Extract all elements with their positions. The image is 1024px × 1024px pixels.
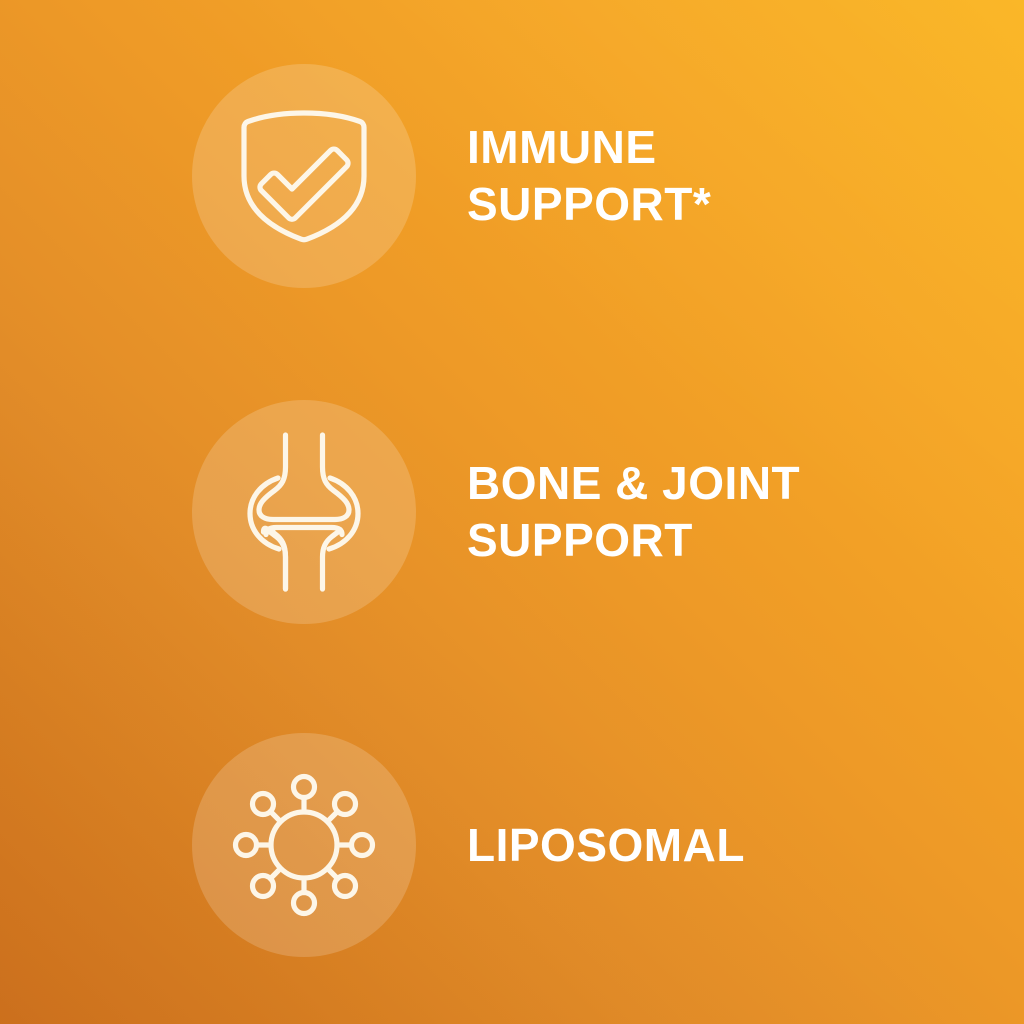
supplement-benefits-panel: IMMUNE SUPPORT* BONE & JOINT SUPPORT [0, 0, 1024, 1024]
icon-badge-liposomal [192, 733, 416, 957]
liposome-heads [236, 777, 373, 914]
benefit-row: BONE & JOINT SUPPORT [0, 400, 1024, 624]
shield-check-icon [238, 106, 370, 246]
liposome-icon [228, 769, 380, 921]
bone-joint-icon [244, 431, 364, 593]
icon-badge-bone-joint [192, 400, 416, 624]
benefits-list: IMMUNE SUPPORT* BONE & JOINT SUPPORT [0, 0, 1024, 1024]
benefit-row: LIPOSOMAL [0, 733, 1024, 957]
benefit-label-liposomal: LIPOSOMAL [467, 817, 745, 874]
benefit-label-bone-joint: BONE & JOINT SUPPORT [467, 455, 800, 569]
benefit-label-immune: IMMUNE SUPPORT* [467, 119, 711, 233]
icon-badge-immune [192, 64, 416, 288]
benefit-row: IMMUNE SUPPORT* [0, 64, 1024, 288]
